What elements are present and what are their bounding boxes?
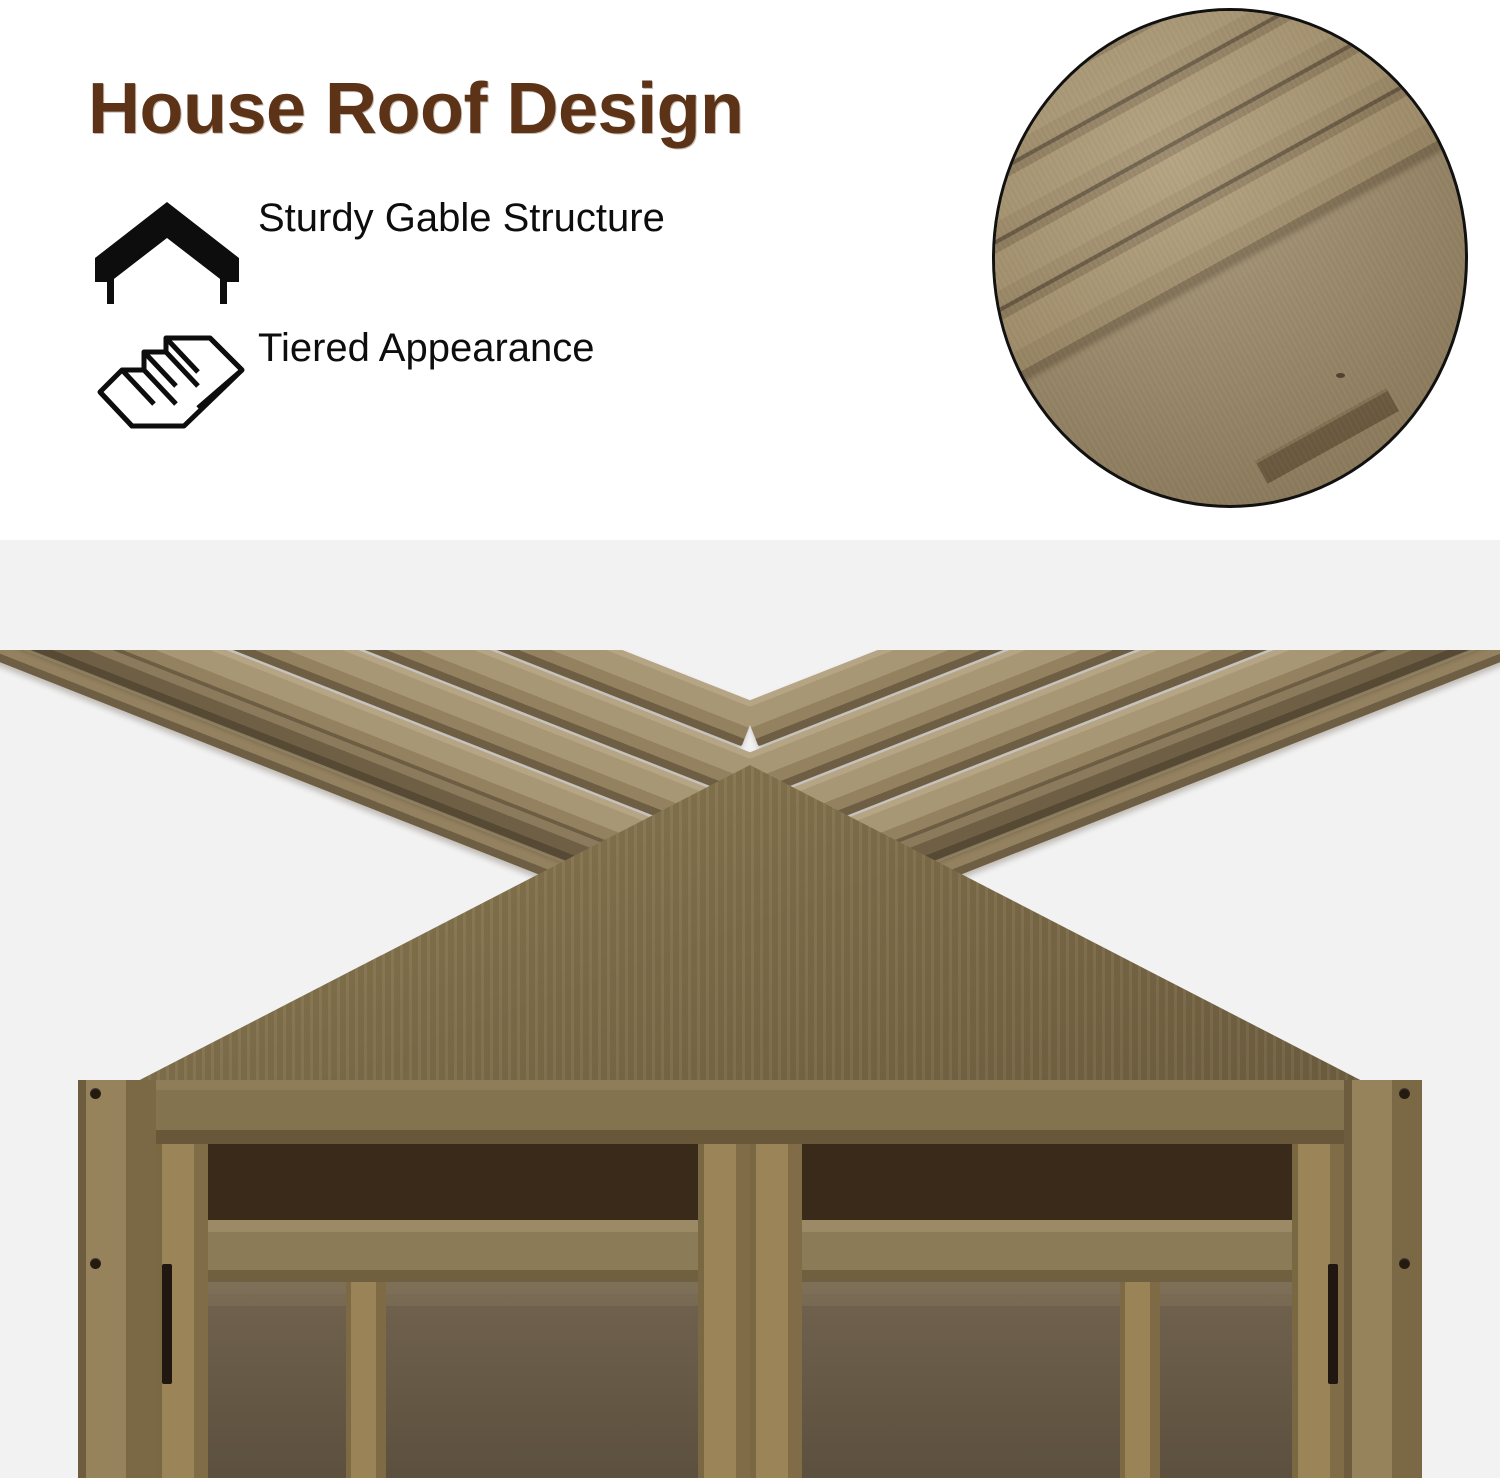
feature-item-gable: Sturdy Gable Structure (0, 196, 900, 326)
cabinet-body (78, 1080, 1422, 1478)
feature-label: Sturdy Gable Structure (258, 196, 665, 241)
screw (1399, 1088, 1410, 1099)
door-muntin (1120, 1282, 1160, 1478)
screw (1399, 1258, 1410, 1269)
corner-post-left (78, 1080, 156, 1478)
door-top-rail (208, 1220, 698, 1282)
feature-item-tiered: Tiered Appearance (0, 326, 900, 456)
tiered-steps-icon (92, 326, 242, 436)
door-glass-panel (208, 1282, 698, 1478)
feature-panel: House Roof Design Sturdy Gable Structure (0, 0, 1500, 540)
door-top-rail (802, 1220, 1292, 1282)
product-photo (0, 540, 1500, 1478)
corner-post-right (1344, 1080, 1422, 1478)
roof-closeup-photo (992, 8, 1468, 508)
door-stile-inner (750, 1144, 802, 1478)
nail-hole (1336, 373, 1345, 378)
feature-label: Tiered Appearance (258, 326, 595, 371)
screw (90, 1258, 101, 1269)
feature-list: Sturdy Gable Structure (0, 196, 900, 456)
page-title: House Roof Design (88, 68, 744, 150)
door-glass-panel (802, 1282, 1292, 1478)
roof-closeup-circle (992, 8, 1468, 508)
door-muntin (346, 1282, 386, 1478)
top-trim-band (78, 1080, 1422, 1144)
product-feature-image: { "feature_panel": { "headline": "House … (0, 0, 1500, 1478)
cabinet-door-left[interactable] (156, 1144, 750, 1478)
product-photo-panel (0, 540, 1500, 1478)
screw (90, 1088, 101, 1099)
door-hinge-left (162, 1264, 172, 1384)
gable-roof-icon (92, 196, 242, 306)
cabinet-door-right[interactable] (750, 1144, 1344, 1478)
board-end-grain (1255, 388, 1399, 483)
door-stile-inner (698, 1144, 750, 1478)
door-hinge-right (1328, 1264, 1338, 1384)
